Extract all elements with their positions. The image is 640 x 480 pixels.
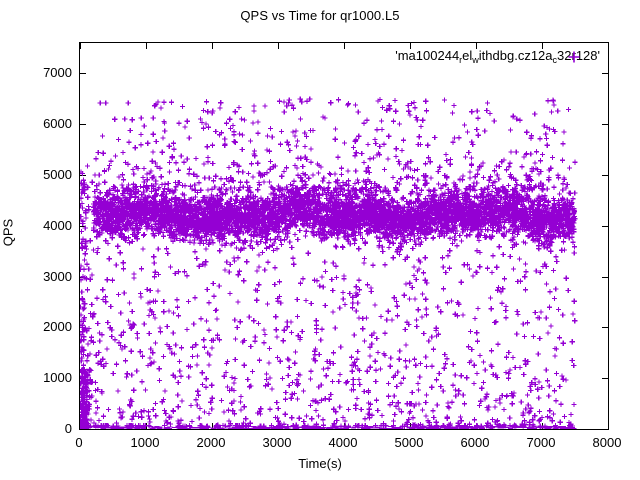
legend: 'ma100244relwithdbg.cz12ac32r128' [300,47,600,67]
y-tick-label: 2000 [10,320,72,333]
legend-marker-icon [566,49,582,65]
data-points-group [80,96,578,429]
page-title: QPS vs Time for qr1000.L5 [0,8,640,23]
y-tick-label: 6000 [10,117,72,130]
chart-canvas: QPS vs Time for qr1000.L5 01000200030004… [0,0,640,480]
x-axis-label: Time(s) [0,456,640,471]
x-tick-label: 8000 [567,436,640,449]
y-tick-label: 5000 [10,168,72,181]
y-tick-label: 1000 [10,371,72,384]
y-tick-label: 0 [10,422,72,435]
y-axis-tick-labels: 01000200030004000500060007000 [6,0,72,480]
y-tick-label: 4000 [10,219,72,232]
y-axis-label: QPS [1,203,16,263]
y-tick-label: 7000 [10,66,72,79]
scatter-plot-svg [80,43,608,429]
plot-area [79,42,609,430]
y-tick-label: 3000 [10,270,72,283]
